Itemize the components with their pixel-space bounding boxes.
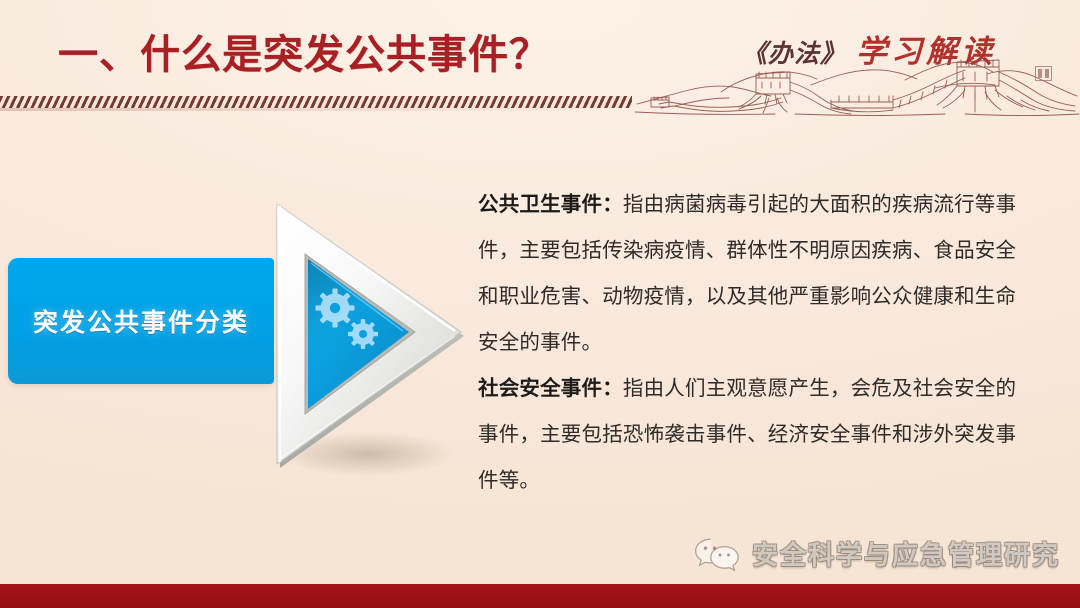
paragraph-lead-label: 社会安全事件： (478, 377, 623, 400)
body-text-block: 公共卫生事件：指由病菌病毒引起的大面积的疾病流行等事件，主要包括传染病疫情、群体… (478, 182, 1024, 504)
category-label-text: 突发公共事件分类 (33, 303, 249, 339)
paragraph-public-health: 公共卫生事件：指由病菌病毒引起的大面积的疾病流行等事件，主要包括传染病疫情、群体… (478, 182, 1024, 366)
play-triangle-arrow-icon (255, 186, 470, 484)
hatched-stripe-divider (0, 96, 632, 108)
presentation-slide: 一、什么是突发公共事件？ 《办法》 学习解读 (0, 0, 1080, 608)
seal-stamp-icon (1035, 66, 1052, 81)
paragraph-body-text: 指由病菌病毒引起的大面积的疾病流行等事件，主要包括传染病疫情、群体性不明原因疾病… (478, 193, 1016, 354)
wechat-icon (694, 537, 740, 571)
footer-watermark: 安全科学与应急管理研究 (694, 535, 1060, 572)
great-wall-line-art-icon (635, 52, 1080, 118)
footer-watermark-text: 安全科学与应急管理研究 (752, 535, 1060, 572)
page-title: 一、什么是突发公共事件？ (58, 22, 550, 80)
paragraph-lead-label: 公共卫生事件： (478, 193, 623, 216)
bottom-accent-bar (0, 584, 1080, 608)
category-label-box[interactable]: 突发公共事件分类 (8, 258, 274, 384)
slide-header: 一、什么是突发公共事件？ 《办法》 学习解读 (0, 0, 1080, 118)
paragraph-social-security: 社会安全事件：指由人们主观意愿产生，会危及社会安全的事件，主要包括恐怖袭击事件、… (478, 366, 1024, 504)
